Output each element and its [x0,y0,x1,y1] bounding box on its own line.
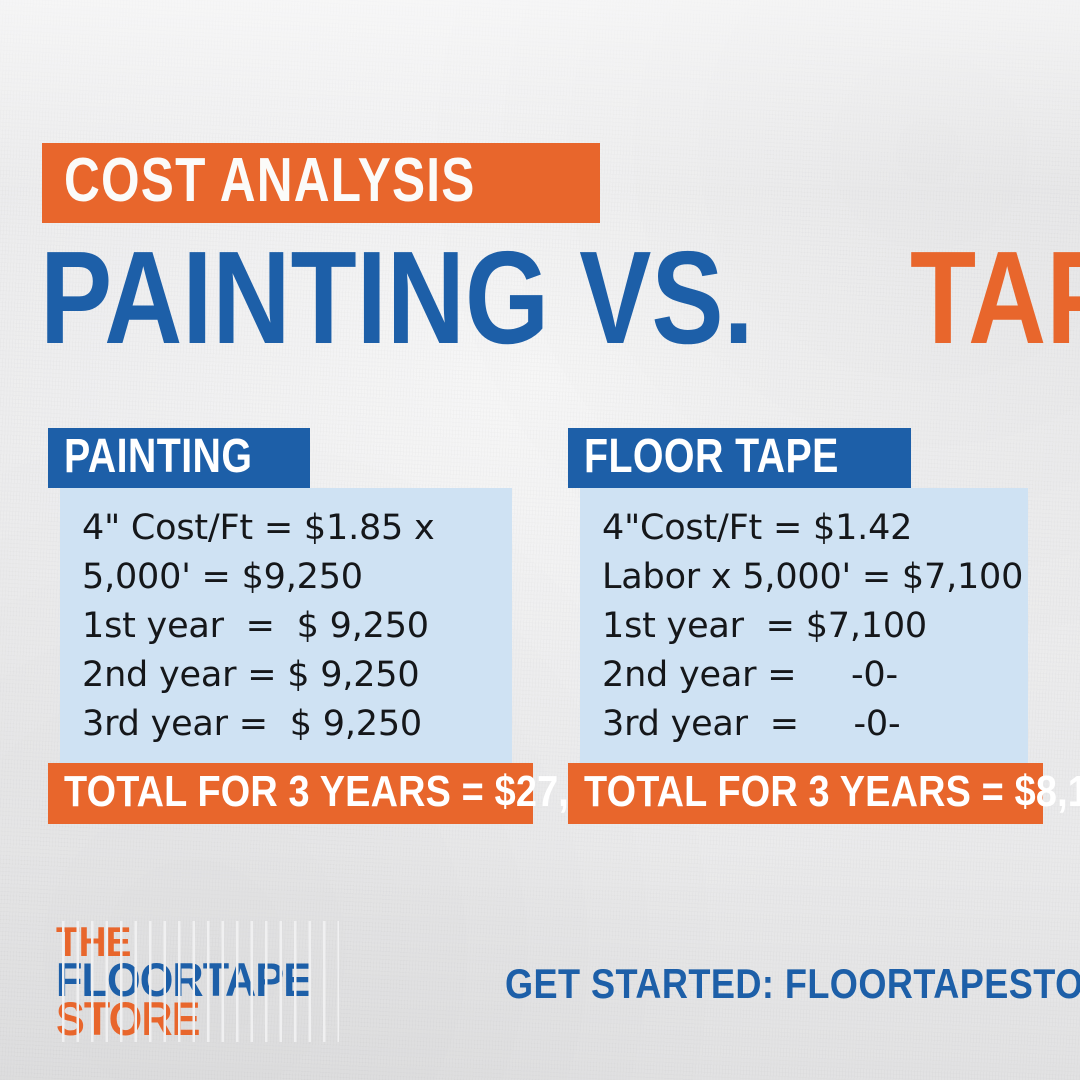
brand-logo[interactable]: THE FLOORTAPE STORE [56,925,333,1038]
column-painting: PAINTING 4" Cost/Ft = $1.85 x 5,000' = $… [48,428,533,824]
cta-website-link[interactable]: GET STARTED: FLOORTAPESTORE.COM [505,960,1080,1008]
total-label: TOTAL FOR 3 YEARS = $8,100 [584,774,967,810]
cost-line: 3rd year = -0- [602,700,1010,749]
cost-line: 1st year = $7,100 [602,602,1010,651]
cost-line: 2nd year = -0- [602,651,1010,700]
column-badge-painting: PAINTING [48,428,310,488]
cost-line: 5,000' = $9,250 [82,553,494,602]
cost-line: 4"Cost/Ft = $1.42 [602,504,1010,553]
column-panel-painting: 4" Cost/Ft = $1.85 x 5,000' = $9,250 1st… [60,488,512,763]
cost-line: 3rd year = $ 9,250 [82,700,494,749]
total-bar-floor-tape: TOTAL FOR 3 YEARS = $8,100 [568,763,1043,824]
comparison-columns: PAINTING 4" Cost/Ft = $1.85 x 5,000' = $… [0,428,1080,848]
headline-part-painting: PAINTING VS. [40,243,754,354]
column-badge-label: PAINTING [64,437,252,476]
cost-line: Labor x 5,000' = $7,100 [602,553,1010,602]
infographic-canvas: COST ANALYSIS PAINTING VS. TAPING PAINTI… [0,0,1080,1080]
cost-line: 4" Cost/Ft = $1.85 x [82,504,494,553]
cost-line: 2nd year = $ 9,250 [82,651,494,700]
total-label: TOTAL FOR 3 YEARS = $27,750 [64,774,455,810]
column-panel-floor-tape: 4"Cost/Ft = $1.42 Labor x 5,000' = $7,10… [580,488,1028,763]
column-floor-tape: FLOOR TAPE 4"Cost/Ft = $1.42 Labor x 5,0… [568,428,1043,824]
eyebrow-label: COST ANALYSIS [64,156,476,207]
column-badge-label: FLOOR TAPE [584,437,839,476]
total-bar-painting: TOTAL FOR 3 YEARS = $27,750 [48,763,533,824]
headline-part-taping: TAPING [910,243,1080,354]
cost-line: 1st year = $ 9,250 [82,602,494,651]
eyebrow-badge: COST ANALYSIS [42,143,600,223]
logo-line-store: STORE [56,1000,311,1038]
column-badge-floor-tape: FLOOR TAPE [568,428,911,488]
page-title: PAINTING VS. TAPING [40,243,1080,354]
